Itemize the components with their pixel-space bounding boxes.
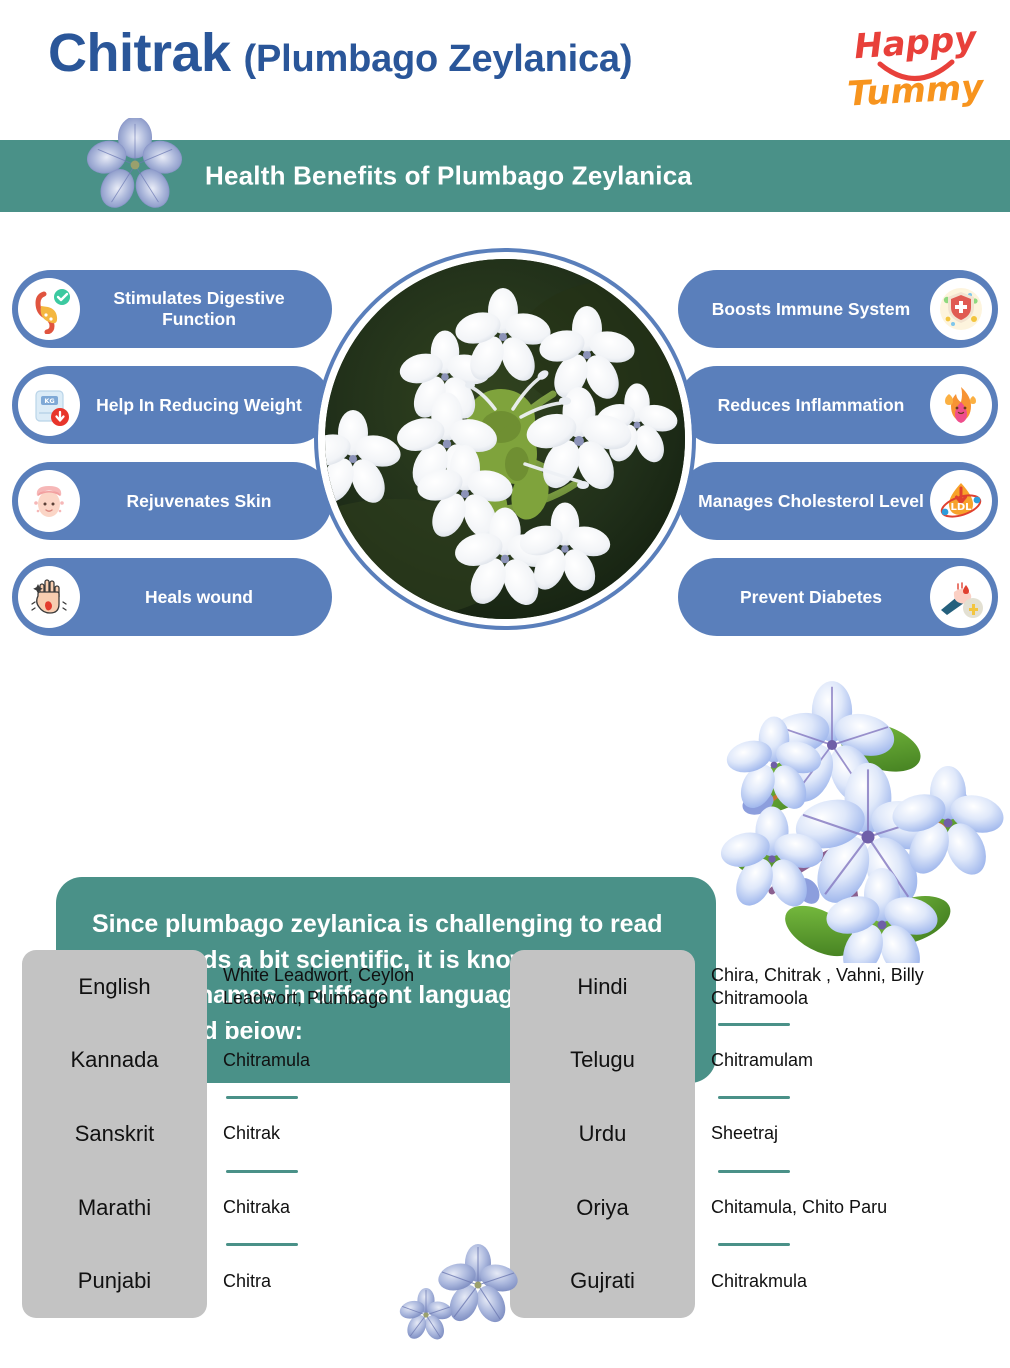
language-name: Gujrati <box>510 1244 695 1318</box>
table-row: English White Leadwort, Ceylon Leadwort,… <box>22 950 502 1024</box>
plumbago-flower-icon <box>86 118 184 208</box>
language-name: Sanskrit <box>22 1097 207 1171</box>
language-name: Punjabi <box>22 1244 207 1318</box>
table-row: Kannada Chitramula <box>22 1024 502 1098</box>
benefit-pill-reduces-inflammation[interactable]: Reduces Inflammation <box>678 366 998 444</box>
table-row: Marathi Chitraka <box>22 1171 502 1245</box>
benefit-pill-rejuvenates-skin[interactable]: Rejuvenates Skin <box>12 462 332 540</box>
svg-text:Happy: Happy <box>853 19 980 68</box>
language-common-names: Chitamula, Chito Paru <box>695 1171 998 1245</box>
page-header: Chitrak (Plumbago Zeylanica) Happy Tummy <box>0 0 1010 128</box>
glucose-test-icon <box>930 566 992 628</box>
wounded-hand-icon <box>18 566 80 628</box>
page-title-scientific-name: (Plumbago Zeylanica) <box>244 40 633 78</box>
language-common-names: Chitrak <box>207 1097 502 1171</box>
benefit-pill-manages-cholesterol-level[interactable]: LDL Manages Cholesterol Level <box>678 462 998 540</box>
benefit-label: Help In Reducing Weight <box>80 395 318 416</box>
language-common-names: Sheetraj <box>695 1097 998 1171</box>
plumbago-flower-pair-image <box>398 1243 523 1348</box>
benefit-label: Boosts Immune System <box>692 299 930 320</box>
language-name: Telugu <box>510 1024 695 1098</box>
language-name: Urdu <box>510 1097 695 1171</box>
infographic-page: Chitrak (Plumbago Zeylanica) Happy Tummy… <box>0 0 1010 1368</box>
language-name: Hindi <box>510 950 695 1024</box>
table-row: Urdu Sheetraj <box>510 1097 998 1171</box>
language-common-names: White Leadwort, Ceylon Leadwort, Plumbag… <box>207 950 502 1024</box>
table-row: Oriya Chitamula, Chito Paru <box>510 1171 998 1245</box>
inflammation-flame-icon <box>930 374 992 436</box>
benefit-label: Heals wound <box>80 587 318 608</box>
language-table-right: Hindi Chira, Chitrak , Vahni, Billy Chit… <box>510 950 998 1318</box>
table-row: Gujrati Chitrakmula <box>510 1244 998 1318</box>
svg-text:Tummy: Tummy <box>846 67 986 110</box>
benefit-pill-help-in-reducing-weight[interactable]: KG Help In Reducing Weight <box>12 366 332 444</box>
language-common-names: Chitrakmula <box>695 1244 998 1318</box>
happy-tummy-logo: Happy Tummy <box>842 14 992 110</box>
page-title-main: Chitrak <box>48 26 231 80</box>
weight-scale-icon: KG <box>18 374 80 436</box>
table-row: Sanskrit Chitrak <box>22 1097 502 1171</box>
benefit-pill-boosts-immune-system[interactable]: Boosts Immune System <box>678 270 998 348</box>
stomach-digestion-icon <box>18 278 80 340</box>
table-row: Telugu Chitramulam <box>510 1024 998 1098</box>
facial-skin-icon <box>18 470 80 532</box>
benefit-label: Rejuvenates Skin <box>80 491 318 512</box>
banner-title: Health Benefits of Plumbago Zeylanica <box>205 161 692 192</box>
benefit-label: Prevent Diabetes <box>692 587 930 608</box>
benefit-label: Stimulates Digestive Function <box>80 288 318 329</box>
plumbago-zeylanica-photo <box>318 252 692 626</box>
language-name: Marathi <box>22 1171 207 1245</box>
language-common-names: Chitramulam <box>695 1024 998 1098</box>
benefit-pill-prevent-diabetes[interactable]: Prevent Diabetes <box>678 558 998 636</box>
benefit-pill-stimulates-digestive-function[interactable]: Stimulates Digestive Function <box>12 270 332 348</box>
svg-text:LDL: LDL <box>950 502 972 513</box>
language-name: Oriya <box>510 1171 695 1245</box>
language-name: English <box>22 950 207 1024</box>
plumbago-bouquet-image <box>712 663 1010 963</box>
ldl-cholesterol-icon: LDL <box>930 470 992 532</box>
language-common-names: Chitramula <box>207 1024 502 1098</box>
language-common-names: Chitraka <box>207 1171 502 1245</box>
svg-text:KG: KG <box>44 397 54 405</box>
benefit-pill-heals-wound[interactable]: Heals wound <box>12 558 332 636</box>
immune-shield-icon <box>930 278 992 340</box>
benefit-label: Manages Cholesterol Level <box>692 491 930 512</box>
language-name: Kannada <box>22 1024 207 1098</box>
page-title: Chitrak (Plumbago Zeylanica) <box>48 26 632 80</box>
benefit-label: Reduces Inflammation <box>692 395 930 416</box>
